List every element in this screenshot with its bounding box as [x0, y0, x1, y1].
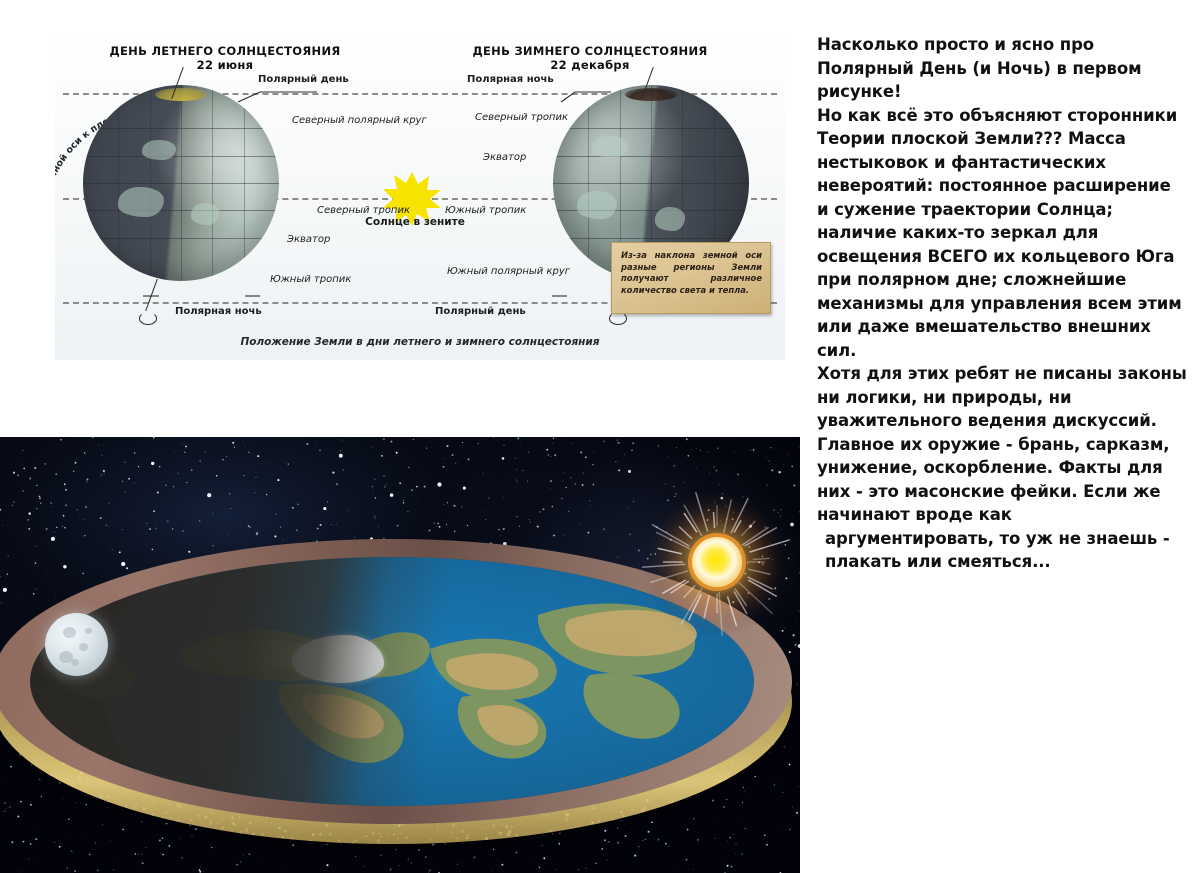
label-equator-left: Экватор — [287, 234, 330, 245]
solstice-diagram: ДЕНЬ ЛЕТНЕГО СОЛНЦЕСТОЯНИЯ 22 июня ДЕНЬ … — [55, 30, 785, 360]
commentary-text: Насколько просто и ясно про Полярный Ден… — [817, 33, 1187, 574]
summer-solstice-title-text: ДЕНЬ ЛЕТНЕГО СОЛНЦЕСТОЯНИЯ — [60, 44, 390, 58]
label-antarctic-circle: Южный полярный круг — [447, 266, 570, 277]
sun-zenith-label: Солнце в зените — [355, 216, 475, 228]
diagram-caption: Положение Земли в дни летнего и зимнего … — [55, 336, 785, 348]
label-tropic-cancer-right: Северный тропик — [475, 112, 568, 123]
winter-solstice-title: ДЕНЬ ЗИМНЕГО СОЛНЦЕСТОЯНИЯ 22 декабря — [425, 44, 755, 73]
flat-earth-illustration — [0, 437, 800, 873]
label-polar-day-right: Полярный день — [435, 306, 526, 317]
label-tropic-capricorn-left: Южный тропик — [270, 274, 351, 285]
axis-knob-summer — [139, 312, 157, 325]
commentary-paragraph-1: Насколько просто и ясно про Полярный Ден… — [817, 33, 1187, 104]
summer-solstice-date: 22 июня — [60, 58, 390, 73]
summer-solstice-title: ДЕНЬ ЛЕТНЕГО СОЛНЦЕСТОЯНИЯ 22 июня — [60, 44, 390, 73]
label-arctic-circle: Северный полярный круг — [292, 115, 427, 126]
commentary-paragraph-2: Но как всё это объясняют сторонники Теор… — [817, 104, 1187, 363]
sun-icon — [642, 487, 792, 637]
tilt-explanation-note: Из-за наклона земной оси разные регионы … — [611, 242, 771, 314]
earth-globe-summer — [83, 85, 279, 281]
label-equator-right: Экватор — [483, 152, 526, 163]
label-tropic-capricorn-right: Южный тропик — [445, 205, 526, 216]
winter-solstice-date: 22 декабря — [425, 58, 755, 73]
commentary-paragraph-3: Хотя для этих ребят не писаны законы ни … — [817, 362, 1187, 527]
label-polar-day-left: Полярный день — [258, 74, 349, 85]
label-polar-night-left: Полярная ночь — [175, 306, 262, 317]
label-polar-night-right: Полярная ночь — [467, 74, 554, 85]
label-tropic-cancer-left: Северный тропик — [317, 205, 410, 216]
polar-day-cap-summer — [155, 88, 207, 101]
commentary-paragraph-4: аргументировать, то уж не знаешь - плака… — [817, 527, 1187, 574]
globe-grid-summer — [83, 85, 279, 281]
polar-night-cap-winter — [625, 88, 677, 101]
winter-solstice-title-text: ДЕНЬ ЗИМНЕГО СОЛНЦЕСТОЯНИЯ — [425, 44, 755, 58]
moon-icon — [45, 613, 108, 676]
